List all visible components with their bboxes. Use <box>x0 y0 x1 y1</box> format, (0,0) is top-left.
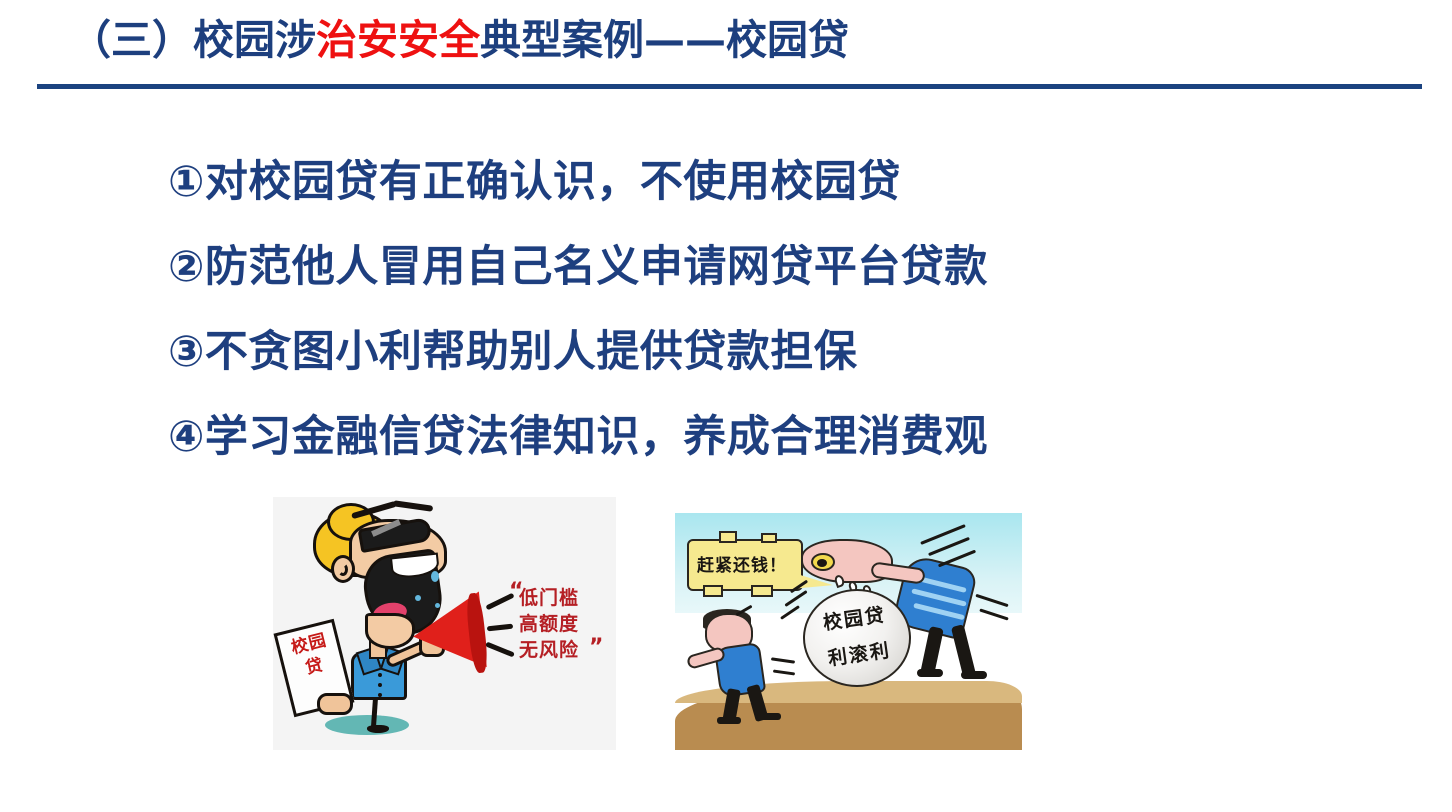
figure-shirt-button <box>378 693 382 697</box>
snowball-label: 校园贷 利滚利 <box>810 596 903 679</box>
bullet-item-2: ②防范他人冒用自己名义申请网贷平台贷款 <box>168 225 1268 310</box>
speech-bubble-text: 赶紧还钱！ <box>697 551 797 576</box>
speech-bubble-notch <box>703 585 723 597</box>
speech-bubble-notch <box>761 533 777 543</box>
bullet-item-4: ④学习金融信贷法律知识，养成合理消费观 <box>168 395 1268 480</box>
sound-ray <box>487 624 513 632</box>
page-title-segment-2-highlight: 治安安全 <box>316 16 480 64</box>
speech-bubble-notch <box>751 585 773 597</box>
figure-chin <box>365 613 415 649</box>
slogan-line-1: 低门槛 <box>519 585 579 611</box>
lender-pupil <box>817 559 827 567</box>
speech-bubble-notch <box>719 531 737 543</box>
lender-shoe <box>961 671 987 679</box>
page-title: （三）校园涉治安安全典型案例——校园贷 <box>70 18 849 63</box>
page-title-segment-1: （三）校园涉 <box>70 16 316 64</box>
bullet-item-3: ③不贪图小利帮助别人提供贷款担保 <box>168 310 1268 395</box>
lender-shoe <box>917 669 943 677</box>
borrower-shoe <box>757 713 781 720</box>
figure-shirt-button <box>378 673 382 677</box>
slogan-line-2: 高额度 <box>519 611 579 637</box>
spit-droplet <box>431 571 439 582</box>
borrower-shoe <box>717 717 741 724</box>
sound-ray <box>485 642 515 658</box>
figure-hand-holding-paper <box>317 693 353 715</box>
slogan-quote-close: ” <box>589 635 603 660</box>
figure-ear-inner <box>338 563 348 576</box>
slogan-line-3: 无风险 <box>519 637 579 663</box>
illustration-campus-loan-salesman: 校园贷 “ 低门槛 高额度 无风险 ” <box>273 497 616 750</box>
bullet-item-1: ①对校园贷有正确认识，不使用校园贷 <box>168 140 1268 225</box>
page-title-segment-3: 典型案例——校园贷 <box>480 16 849 64</box>
figure-shadow <box>325 715 409 735</box>
figure-shirt-button <box>378 683 382 687</box>
title-underline-rule <box>37 84 1422 89</box>
illustration-debt-snowball: 赶紧还钱！ 校园贷 利滚利 <box>675 513 1022 750</box>
bullet-list: ①对校园贷有正确认识，不使用校园贷 ②防范他人冒用自己名义申请网贷平台贷款 ③不… <box>168 140 1268 480</box>
figure-shoe <box>367 725 389 733</box>
figure-eyebrow-right <box>393 500 433 512</box>
